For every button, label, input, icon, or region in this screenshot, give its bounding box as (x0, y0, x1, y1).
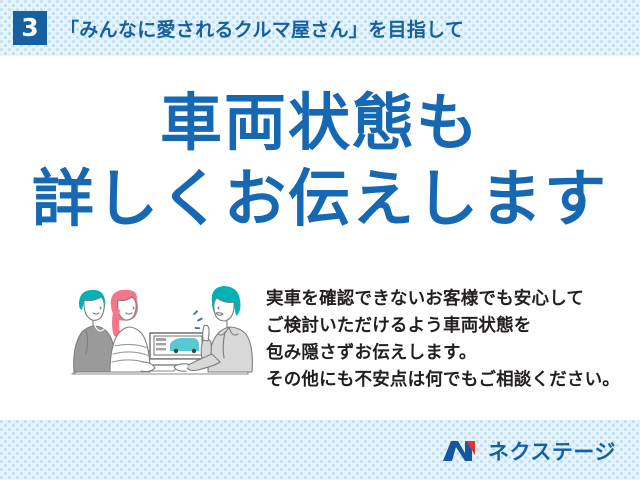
brand-logo: ネクステージ (441, 437, 616, 465)
section-number-badge: 3 (13, 11, 47, 45)
body-copy-line-4: その他にも不安点は何でもご相談ください。 (266, 367, 616, 394)
headline-line-1: 車両状態も (0, 92, 640, 154)
speech-marks (193, 310, 203, 329)
body-copy-line-2: ご検討いただけるよう車両状態を (266, 313, 616, 340)
headline-line-2: 詳しくお伝えします (0, 168, 640, 230)
body-copy-line-3: 包み隠さずお伝えします。 (266, 340, 616, 367)
consultation-illustration-svg (62, 276, 258, 388)
header-title: 「みんなに愛されるクルマ屋さん」を目指して (60, 15, 464, 42)
headline: 車両状態も 詳しくお伝えします (0, 92, 640, 230)
consultation-illustration (62, 276, 258, 388)
slide-canvas: 3 「みんなに愛されるクルマ屋さん」を目指して 車両状態も 詳しくお伝えします (0, 0, 640, 480)
nextage-n-logo-icon (441, 438, 481, 464)
body-copy-line-1: 実車を確認できないお客様でも安心して (266, 286, 616, 313)
header: 3 「みんなに愛されるクルマ屋さん」を目指して (0, 0, 640, 56)
brand-logo-text: ネクステージ (488, 436, 616, 466)
body-copy: 実車を確認できないお客様でも安心して ご検討いただけるよう車両状態を 包み隠さず… (266, 286, 616, 394)
